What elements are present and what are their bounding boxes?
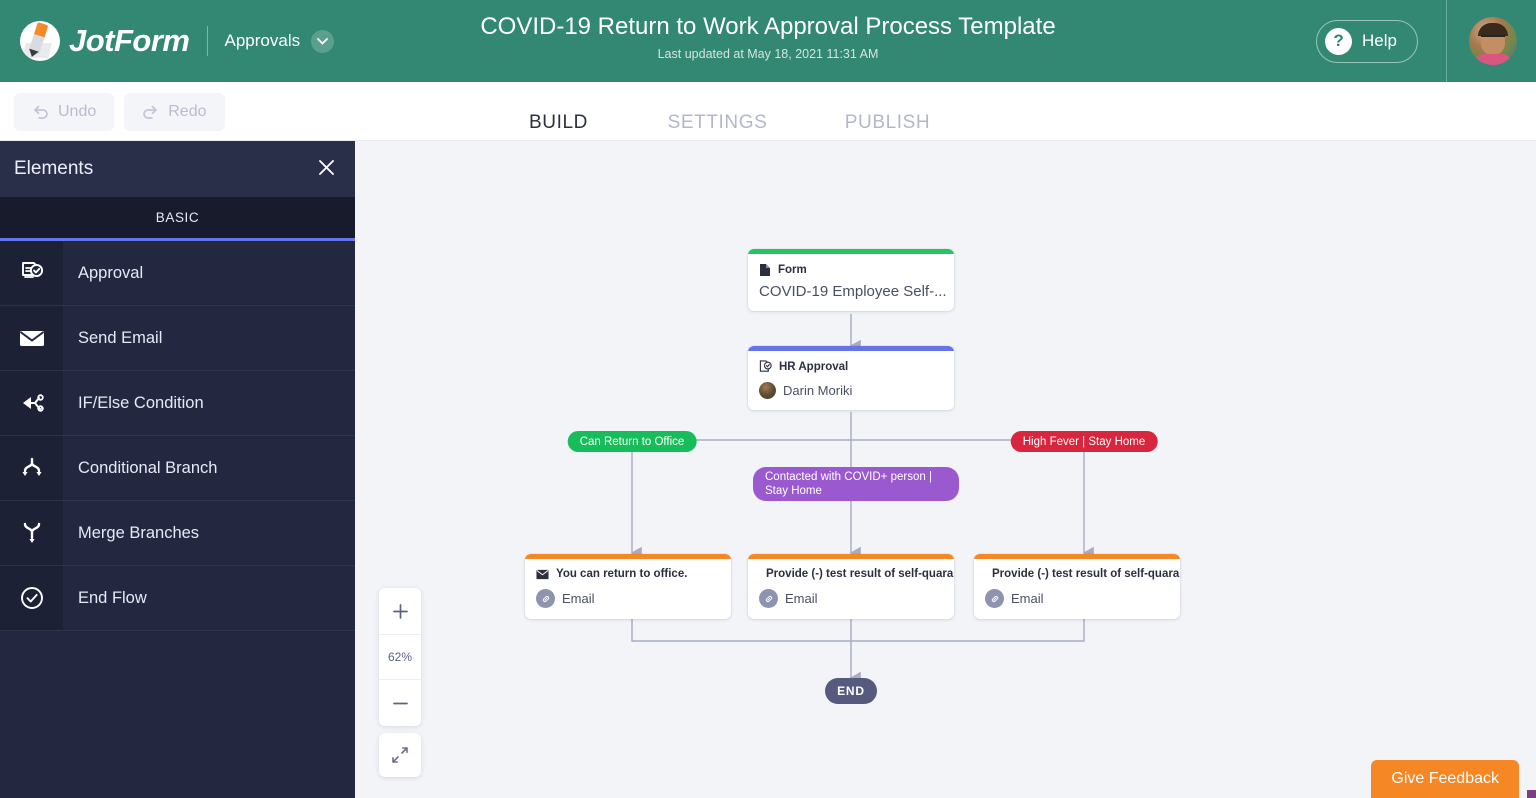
node-channel-row: Email bbox=[748, 580, 954, 619]
redo-button[interactable]: Redo bbox=[124, 93, 224, 131]
branch-pill-can-return-to-office[interactable]: Can Return to Office bbox=[568, 431, 697, 452]
node-title: Darin Moriki bbox=[783, 383, 852, 398]
node-type-row: Provide (-) test result of self-quara... bbox=[974, 559, 1180, 580]
link-icon bbox=[759, 589, 778, 608]
check-circle-icon bbox=[0, 566, 63, 630]
undo-button[interactable]: Undo bbox=[14, 93, 114, 131]
give-feedback-button[interactable]: Give Feedback bbox=[1371, 760, 1519, 798]
plus-icon bbox=[392, 603, 409, 620]
zoom-in-button[interactable] bbox=[379, 588, 421, 634]
flow-canvas[interactable]: Form COVID-19 Employee Self-... HR Appro… bbox=[355, 141, 1536, 798]
branch-pill-label: Can Return to Office bbox=[580, 435, 685, 449]
node-type-row: You can return to office. bbox=[525, 559, 731, 580]
sidebar-item-label: IF/Else Condition bbox=[63, 371, 204, 435]
envelope-icon bbox=[0, 306, 63, 370]
node-title: Email bbox=[785, 591, 818, 606]
node-end[interactable]: END bbox=[825, 678, 877, 704]
close-icon[interactable] bbox=[318, 158, 335, 180]
file-icon bbox=[759, 263, 771, 277]
brand-name: JotForm bbox=[69, 23, 190, 59]
sidebar-item-label: End Flow bbox=[63, 566, 147, 630]
zoom-out-button[interactable] bbox=[379, 680, 421, 726]
node-hr-approval[interactable]: HR Approval Darin Moriki bbox=[748, 346, 954, 410]
node-type-label: Form bbox=[778, 264, 807, 276]
node-form[interactable]: Form COVID-19 Employee Self-... bbox=[748, 249, 954, 311]
approval-document-check-icon bbox=[0, 241, 63, 305]
node-type-row: Form bbox=[748, 254, 954, 277]
avatar[interactable] bbox=[1469, 17, 1517, 65]
chevron-down-icon[interactable] bbox=[311, 30, 334, 53]
sidebar-category-tabs: BASIC bbox=[0, 197, 355, 241]
undo-redo-group: Undo Redo bbox=[14, 93, 225, 131]
branch-pill-high-fever[interactable]: High Fever | Stay Home bbox=[1011, 431, 1158, 452]
undo-label: Undo bbox=[58, 103, 96, 121]
sidebar-item-label: Conditional Branch bbox=[63, 436, 217, 500]
node-type-label: Provide (-) test result of self-quara... bbox=[992, 568, 1180, 580]
conditional-branch-icon bbox=[0, 436, 63, 500]
node-type-label: You can return to office. bbox=[556, 568, 687, 580]
redo-label: Redo bbox=[168, 103, 206, 121]
zoom-controls: 62% bbox=[379, 588, 421, 726]
sidebar-item-label: Merge Branches bbox=[63, 501, 199, 565]
link-icon bbox=[985, 589, 1004, 608]
if-else-condition-icon bbox=[0, 371, 63, 435]
sidebar-item-if-else-condition[interactable]: IF/Else Condition bbox=[0, 371, 355, 436]
node-type-label: HR Approval bbox=[779, 361, 848, 373]
sidebar-item-merge-branches[interactable]: Merge Branches bbox=[0, 501, 355, 566]
branch-pill-label: Contacted with COVID+ person | Stay Home bbox=[765, 470, 947, 498]
header-right-area: ? Help bbox=[1316, 0, 1536, 82]
sidebar-item-label: Approval bbox=[63, 241, 143, 305]
node-title: Email bbox=[1011, 591, 1044, 606]
sidebar-header: Elements bbox=[0, 141, 355, 197]
node-title: Email bbox=[562, 591, 595, 606]
builder-toolbar: Undo Redo BUILD SETTINGS PUBLISH bbox=[0, 82, 1536, 141]
redo-arrow-icon bbox=[142, 104, 159, 120]
envelope-icon bbox=[536, 569, 549, 580]
sidebar-item-send-email[interactable]: Send Email bbox=[0, 306, 355, 371]
help-button[interactable]: ? Help bbox=[1316, 20, 1418, 63]
sidebar-tab-basic[interactable]: BASIC bbox=[156, 210, 200, 225]
node-type-label: Provide (-) test result of self-quara... bbox=[766, 568, 954, 580]
fit-to-screen-button[interactable] bbox=[379, 733, 421, 777]
node-email-left[interactable]: You can return to office. Email bbox=[525, 554, 731, 619]
sidebar-item-conditional-branch[interactable]: Conditional Branch bbox=[0, 436, 355, 501]
help-label: Help bbox=[1362, 31, 1397, 51]
jotform-logo-icon[interactable] bbox=[20, 21, 60, 61]
fit-to-screen-icon bbox=[389, 744, 411, 766]
link-icon bbox=[536, 589, 555, 608]
elements-sidebar: Elements BASIC Approval bbox=[0, 141, 355, 798]
merge-branches-icon bbox=[0, 501, 63, 565]
approval-document-check-icon bbox=[759, 360, 772, 373]
sidebar-item-approval[interactable]: Approval bbox=[0, 241, 355, 306]
question-mark-icon: ? bbox=[1325, 28, 1352, 55]
corner-decoration bbox=[1527, 790, 1536, 798]
sidebar-item-end-flow[interactable]: End Flow bbox=[0, 566, 355, 631]
node-type-row: Provide (-) test result of self-quara... bbox=[748, 559, 954, 580]
sidebar-item-label: Send Email bbox=[63, 306, 162, 370]
node-type-row: HR Approval bbox=[748, 351, 954, 373]
sidebar-title: Elements bbox=[14, 158, 93, 180]
branch-pill-label: High Fever | Stay Home bbox=[1023, 435, 1146, 449]
node-email-right[interactable]: Provide (-) test result of self-quara...… bbox=[974, 554, 1180, 619]
node-channel-row: Email bbox=[974, 580, 1180, 619]
zoom-level-value: 62% bbox=[379, 634, 421, 680]
node-assignee-row: Darin Moriki bbox=[748, 373, 954, 410]
branch-pill-contacted-with-covid[interactable]: Contacted with COVID+ person | Stay Home bbox=[753, 467, 959, 501]
undo-arrow-icon bbox=[32, 104, 49, 120]
brand-area: JotForm Approvals bbox=[0, 21, 334, 61]
node-channel-row: Email bbox=[525, 580, 731, 619]
header-divider bbox=[207, 26, 208, 56]
header-right-divider bbox=[1446, 0, 1447, 82]
node-email-center[interactable]: Provide (-) test result of self-quara...… bbox=[748, 554, 954, 619]
app-header: JotForm Approvals COVID-19 Return to Wor… bbox=[0, 0, 1536, 82]
product-label: Approvals bbox=[225, 31, 301, 51]
node-title: COVID-19 Employee Self-... bbox=[748, 277, 954, 311]
minus-icon bbox=[392, 695, 409, 712]
approvals-workflow-builder: JotForm Approvals COVID-19 Return to Wor… bbox=[0, 0, 1536, 798]
user-avatar bbox=[759, 382, 776, 399]
